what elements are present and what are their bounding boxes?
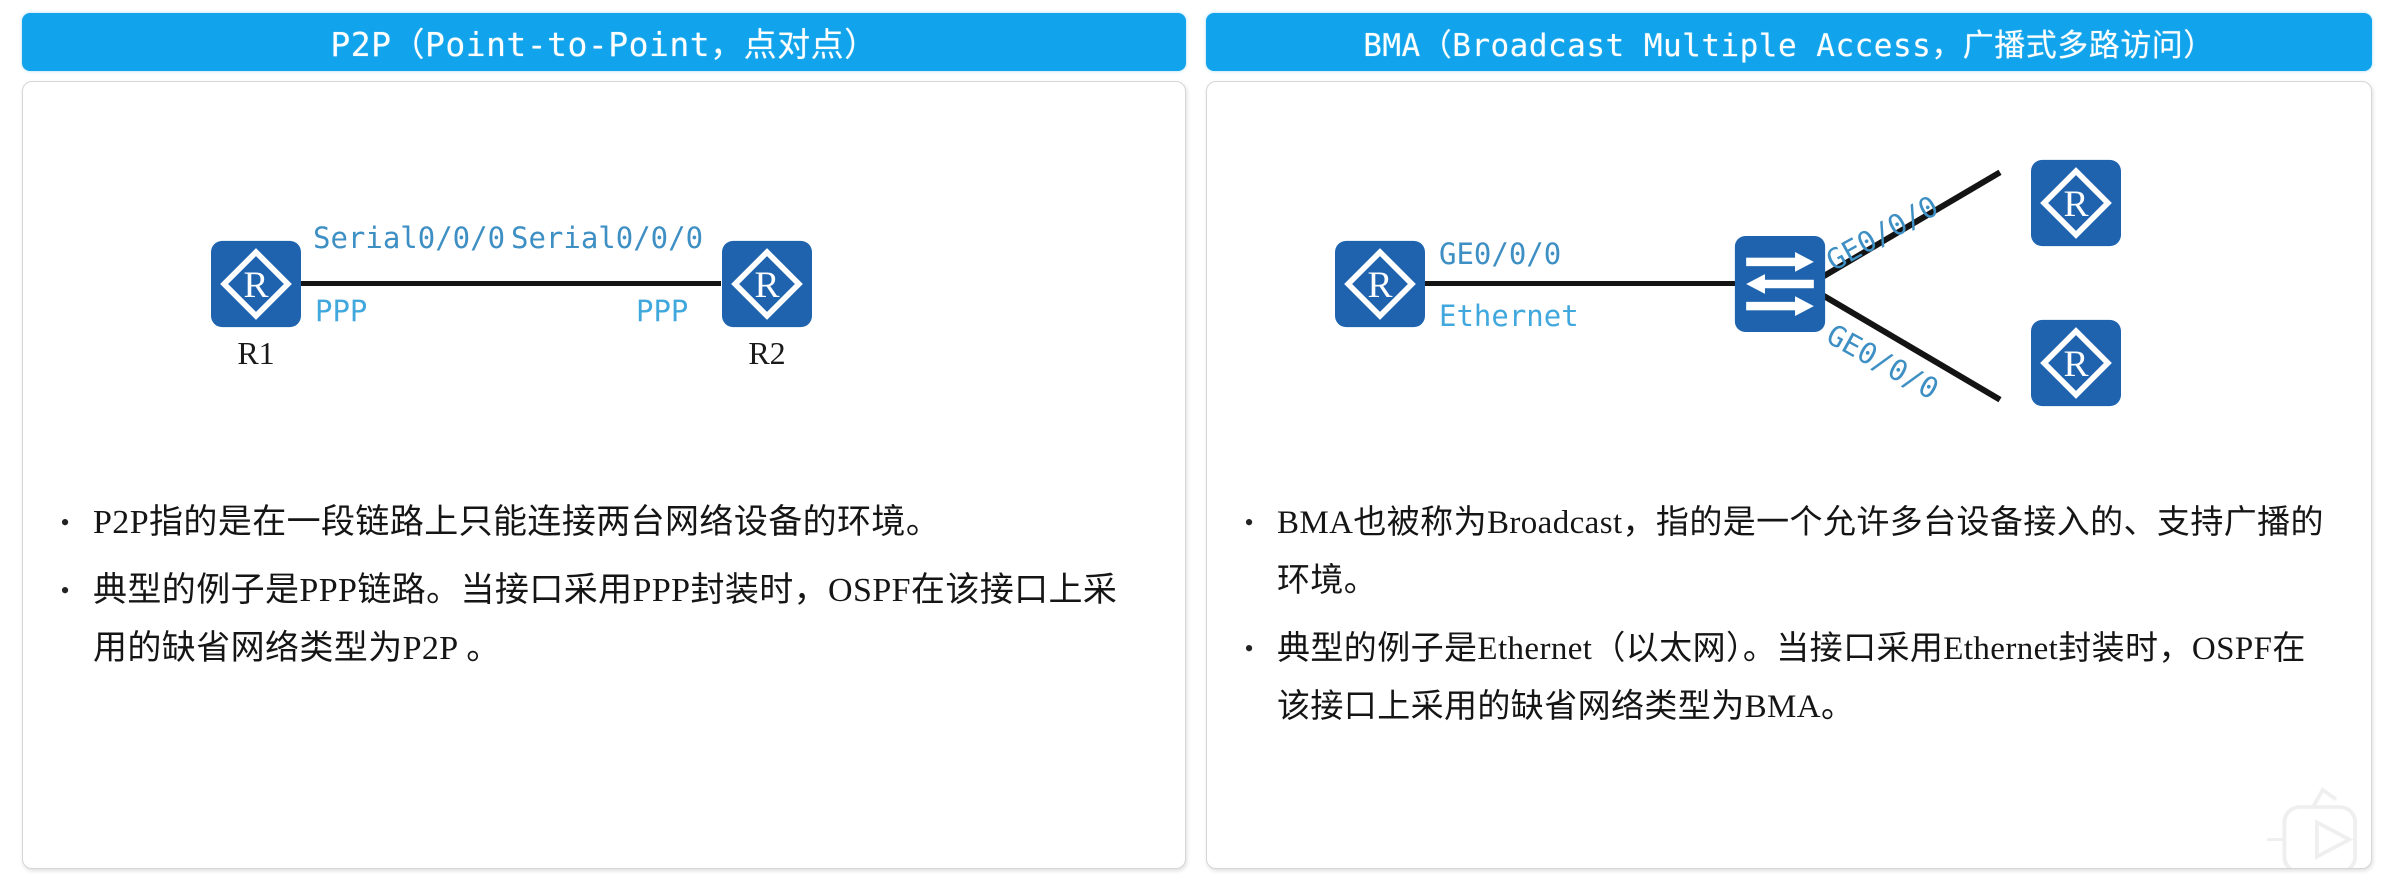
list-item: • 典型的例子是Ethernet（以太网）。当接口采用Ethernet封装时，O… [1221,620,2335,736]
svg-text:R: R [754,265,779,306]
iface-label-right-top: Serial0/0/0 [511,224,703,253]
diagram-bma: R [1207,82,2371,412]
router-icon: R [209,239,303,329]
bullet-list-p2p: • P2P指的是在一段链路上只能连接两台网络设备的环境。 • 典型的例子是PPP… [23,494,1185,688]
diagram-p2p: R R1 R R2 Serial0/ [23,82,1185,412]
iface-label-left-top: Serial0/0/0 [313,224,505,253]
router-r2: R [720,239,814,329]
bullet-marker: • [1221,620,1277,678]
video-play-watermark [2267,786,2363,869]
router-r1: R [209,239,303,329]
switch-center [1733,234,1827,334]
router-icon: R [2029,318,2123,408]
iface-label-left-bottom: Ethernet [1439,302,1579,331]
bullet-marker: • [1221,494,1277,552]
router-icon: R [720,239,814,329]
list-item: • BMA也被称为Broadcast，指的是一个允许多台设备接入的、支持广播的环… [1221,494,2335,610]
panel-title-bma: BMA（Broadcast Multiple Access，广播式多路访问） [1363,20,2215,65]
bullet-text: 典型的例子是PPP链路。当接口采用PPP封装时，OSPF在该接口上采用的缺省网络… [93,562,1149,678]
list-item: • P2P指的是在一段链路上只能连接两台网络设备的环境。 [37,494,1149,552]
bullet-text: P2P指的是在一段链路上只能连接两台网络设备的环境。 [93,494,1149,552]
iface-label-upper-link: GE0/0/0 [1822,191,1943,276]
link-r1-r2 [301,281,721,286]
panel-body-p2p: R R1 R R2 Serial0/ [22,81,1186,869]
router-left: R [1333,239,1427,329]
router-icon: R [2029,158,2123,248]
panel-header-bma: BMA（Broadcast Multiple Access，广播式多路访问） [1206,13,2372,71]
bullet-marker: • [37,562,93,620]
router-r1-label: R1 [237,335,274,371]
panel-header-p2p: P2P（Point-to-Point，点对点） [22,13,1186,71]
panel-body-bma: R [1206,81,2372,869]
bullet-text: 典型的例子是Ethernet（以太网）。当接口采用Ethernet封装时，OSP… [1277,620,2335,736]
bullet-text: BMA也被称为Broadcast，指的是一个允许多台设备接入的、支持广播的环境。 [1277,494,2335,610]
bullet-marker: • [37,494,93,552]
link-router-switch [1425,281,1737,286]
iface-label-left-top: GE0/0/0 [1439,240,1561,269]
svg-text:R: R [243,265,268,306]
router-top-right: R [2029,158,2123,248]
svg-text:R: R [1367,265,1392,306]
svg-text:R: R [2063,344,2088,385]
iface-label-left-bottom: PPP [315,297,367,326]
router-r1-caption: R1 [196,337,316,369]
list-item: • 典型的例子是PPP链路。当接口采用PPP封装时，OSPF在该接口上采用的缺省… [37,562,1149,678]
panel-bma: BMA（Broadcast Multiple Access，广播式多路访问） R [1206,0,2372,869]
iface-label-right-bottom: PPP [636,297,688,326]
panel-title-p2p: P2P（Point-to-Point，点对点） [330,18,877,66]
svg-text:R: R [2063,184,2088,225]
slide-canvas: P2P（Point-to-Point，点对点） R R1 [0,0,2394,892]
router-r2-caption: R2 [707,337,827,369]
router-icon: R [1333,239,1427,329]
bullet-list-bma: • BMA也被称为Broadcast，指的是一个允许多台设备接入的、支持广播的环… [1207,494,2371,746]
switch-icon [1733,234,1827,334]
router-r2-label: R2 [748,335,785,371]
router-bottom-right: R [2029,318,2123,408]
panel-p2p: P2P（Point-to-Point，点对点） R R1 [22,0,1186,869]
